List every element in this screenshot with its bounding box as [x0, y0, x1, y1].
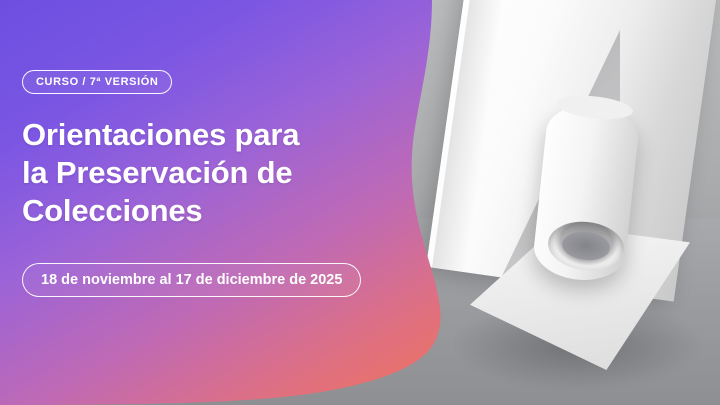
course-dates-badge: 18 de noviembre al 17 de diciembre de 20… [22, 263, 361, 297]
course-version-badge: CURSO / 7ª VERSIÓN [22, 70, 172, 94]
title-line-1: Orientaciones para [22, 116, 442, 154]
banner-content: CURSO / 7ª VERSIÓN Orientaciones para la… [22, 70, 442, 297]
course-promo-banner: CURSO / 7ª VERSIÓN Orientaciones para la… [0, 0, 720, 405]
title-line-3: Colecciones [22, 192, 442, 230]
title-line-2: la Preservación de [22, 154, 442, 192]
page-title: Orientaciones para la Preservación de Co… [22, 116, 442, 229]
